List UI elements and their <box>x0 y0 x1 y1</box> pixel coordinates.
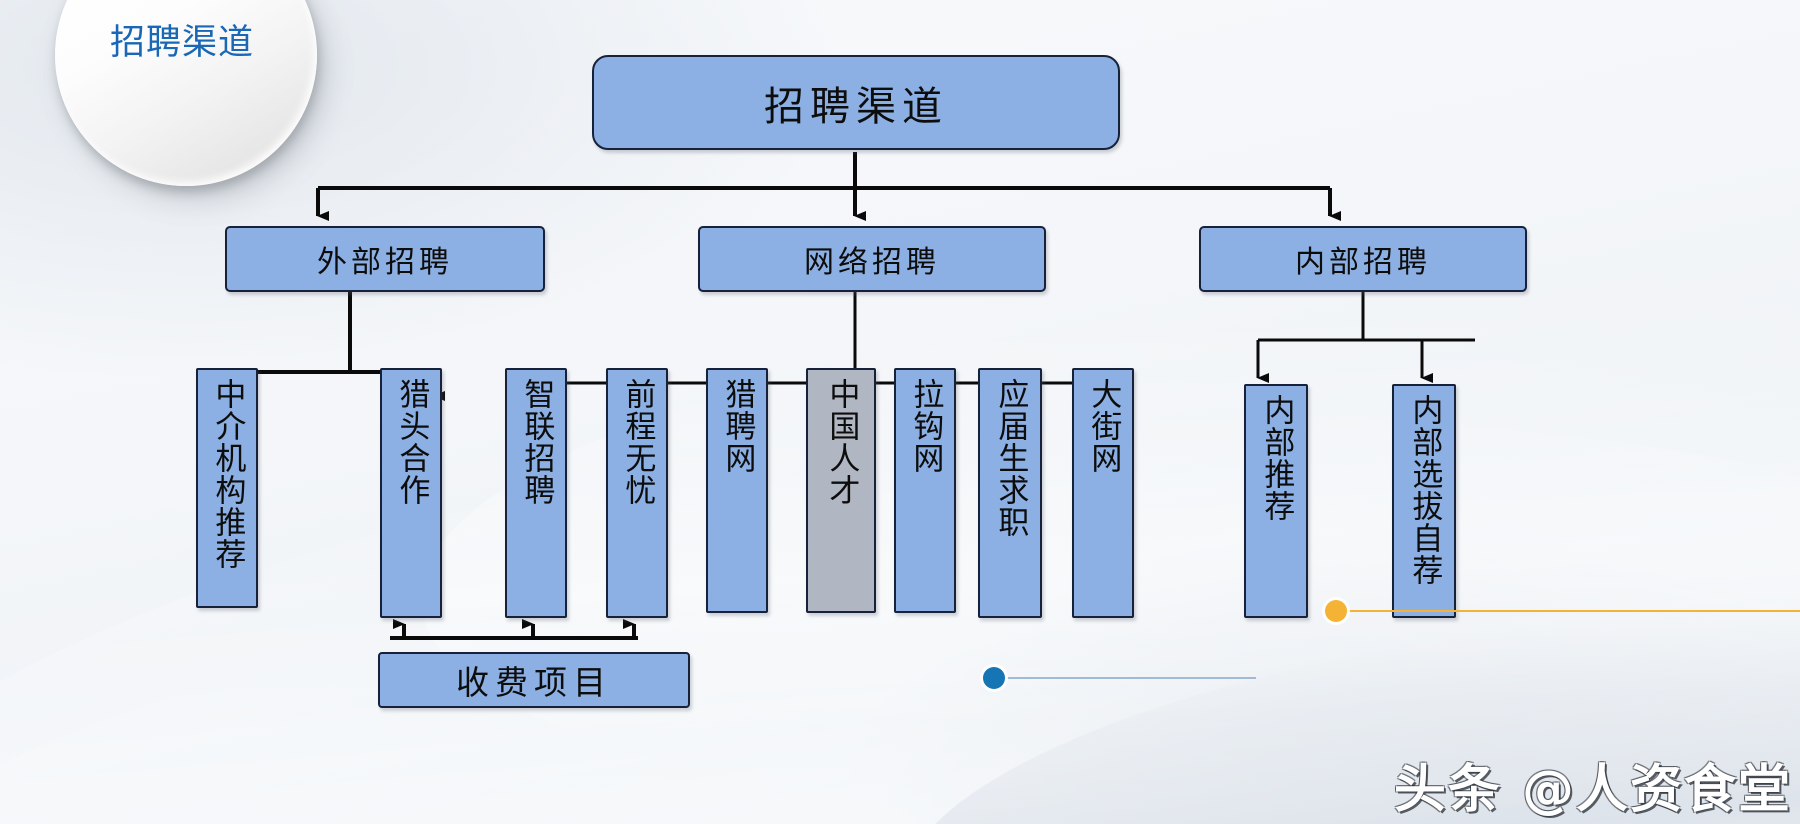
node-leaf-liepin[interactable]: 猎聘网 <box>706 368 768 613</box>
node-leaf-51job[interactable]: 前程无忧 <box>606 368 668 618</box>
node-leaf-zhilian-label: 智联招聘 <box>520 378 553 506</box>
node-leaf-yingjiesheng-label: 应届生求职 <box>994 378 1027 538</box>
node-leaf-dajie-label: 大街网 <box>1087 378 1120 474</box>
orange-accent-line <box>1340 610 1800 612</box>
node-branch-external-label: 外部招聘 <box>317 237 453 281</box>
node-leaf-chinahr-label: 中国人才 <box>825 378 858 506</box>
node-leaf-chinahr[interactable]: 中国人才 <box>806 368 876 613</box>
watermark-text: 头条 @人资食堂 <box>1394 747 1792 822</box>
node-branch-external[interactable]: 外部招聘 <box>225 226 545 292</box>
node-leaf-headhunter-coop[interactable]: 猎头合作 <box>380 368 442 618</box>
slide-canvas: 招聘渠道 <box>0 0 1800 824</box>
node-leaf-headhunter-coop-label: 猎头合作 <box>395 378 428 506</box>
node-branch-internal-label: 内部招聘 <box>1295 237 1431 281</box>
node-leaf-internal-referral-label: 内部推荐 <box>1260 394 1293 522</box>
node-leaf-agency-referral[interactable]: 中介机构推荐 <box>196 368 258 608</box>
title-badge-label: 招聘渠道 <box>110 14 350 65</box>
node-leaf-internal-referral[interactable]: 内部推荐 <box>1244 384 1308 618</box>
node-root-label: 招聘渠道 <box>764 74 948 132</box>
node-footer-paid-items[interactable]: 收费项目 <box>378 652 690 708</box>
node-leaf-internal-selection-label: 内部选拔自荐 <box>1408 394 1441 586</box>
node-root[interactable]: 招聘渠道 <box>592 55 1120 150</box>
node-branch-online[interactable]: 网络招聘 <box>698 226 1046 292</box>
node-leaf-liepin-label: 猎聘网 <box>721 378 754 474</box>
node-leaf-lagou[interactable]: 拉钩网 <box>894 368 956 613</box>
node-leaf-dajie[interactable]: 大街网 <box>1072 368 1134 618</box>
node-leaf-internal-selection[interactable]: 内部选拔自荐 <box>1392 384 1456 618</box>
orange-accent-dot <box>1325 600 1347 622</box>
blue-accent-dot <box>983 667 1005 689</box>
node-branch-online-label: 网络招聘 <box>804 237 940 281</box>
node-branch-internal[interactable]: 内部招聘 <box>1199 226 1527 292</box>
node-leaf-51job-label: 前程无忧 <box>621 378 654 506</box>
node-leaf-zhilian[interactable]: 智联招聘 <box>505 368 567 618</box>
node-leaf-lagou-label: 拉钩网 <box>909 378 942 474</box>
node-leaf-yingjiesheng[interactable]: 应届生求职 <box>978 368 1042 618</box>
node-leaf-agency-referral-label: 中介机构推荐 <box>211 378 244 570</box>
node-footer-paid-items-label: 收费项目 <box>456 656 612 704</box>
blue-accent-line <box>998 677 1256 679</box>
